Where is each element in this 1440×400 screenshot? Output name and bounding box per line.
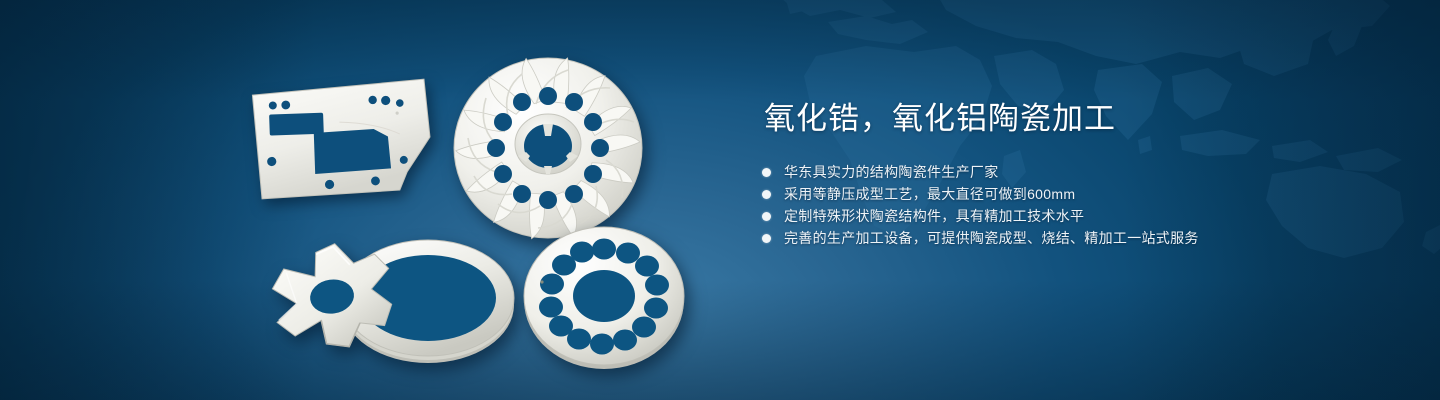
product-image-group <box>0 0 720 400</box>
ceramic-plate-image <box>248 78 440 200</box>
hero-banner: 氧化锆，氧化铝陶瓷加工 华东具实力的结构陶瓷件生产厂家 采用等静压成型工艺，最大… <box>0 0 1440 400</box>
bullet-dot-icon <box>762 234 771 243</box>
feature-text: 定制特殊形状陶瓷结构件，具有精加工技术水平 <box>784 209 1084 224</box>
feature-list-item: 完善的生产加工设备，可提供陶瓷成型、烧结、精加工一站式服务 <box>762 231 1382 246</box>
feature-list-item: 采用等静压成型工艺，最大直径可做到600mm <box>762 187 1382 202</box>
bullet-dot-icon <box>762 190 771 199</box>
feature-text: 完善的生产加工设备，可提供陶瓷成型、烧结、精加工一站式服务 <box>784 231 1199 246</box>
ceramic-cross-and-ring-image <box>250 222 532 377</box>
feature-text: 华东具实力的结构陶瓷件生产厂家 <box>784 165 999 180</box>
ceramic-impeller-image <box>448 52 648 248</box>
feature-text: 采用等静压成型工艺，最大直径可做到600mm <box>784 187 1075 202</box>
feature-list-item: 华东具实力的结构陶瓷件生产厂家 <box>762 165 1382 180</box>
banner-headline: 氧化锆，氧化铝陶瓷加工 <box>764 100 1382 139</box>
ceramic-holed-disc-image <box>518 222 696 374</box>
bullet-dot-icon <box>762 212 771 221</box>
feature-list-item: 定制特殊形状陶瓷结构件，具有精加工技术水平 <box>762 209 1382 224</box>
feature-list: 华东具实力的结构陶瓷件生产厂家 采用等静压成型工艺，最大直径可做到600mm 定… <box>762 165 1382 246</box>
bullet-dot-icon <box>762 168 771 177</box>
banner-copy: 氧化锆，氧化铝陶瓷加工 华东具实力的结构陶瓷件生产厂家 采用等静压成型工艺，最大… <box>762 100 1382 253</box>
